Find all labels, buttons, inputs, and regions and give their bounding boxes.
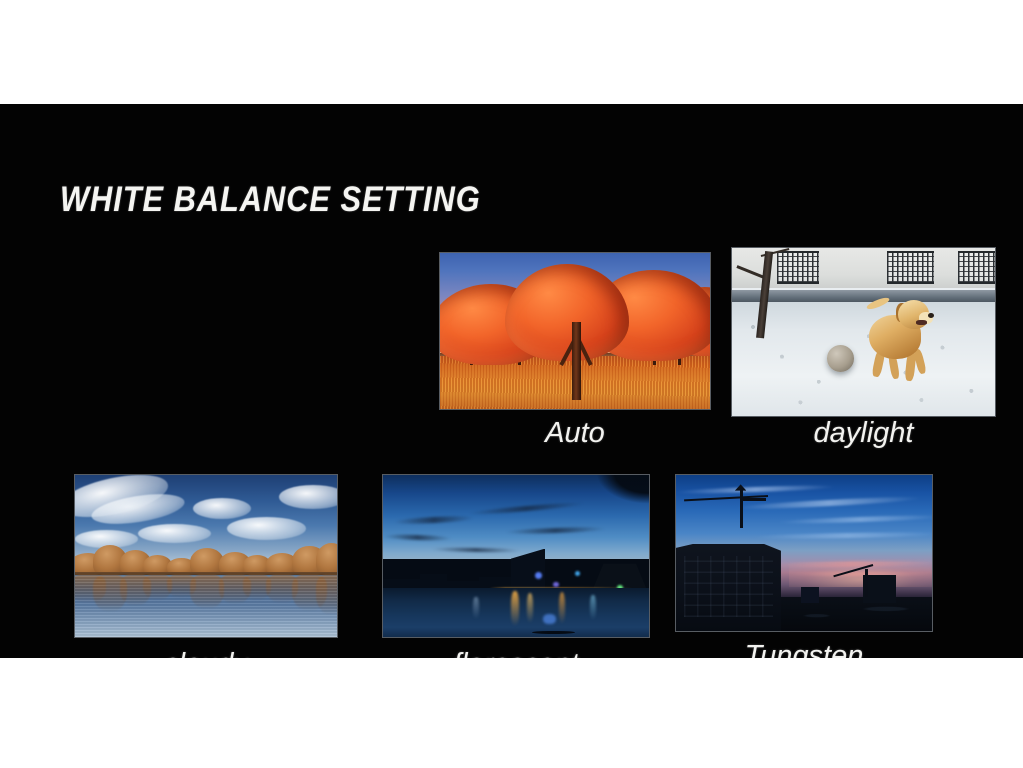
photo-florescent-image [383,475,649,637]
photo-frame-daylight [731,247,996,417]
florescent-light-reflection [473,597,478,619]
sample-photo-florescent[interactable] [382,474,650,638]
sample-photo-daylight[interactable] [731,247,996,417]
cloudy-tree-reflection [292,575,326,611]
tungsten-crane-mast [865,569,868,597]
florescent-light-reflection [590,595,596,620]
daylight-metal-railing [777,251,819,284]
florescent-water [383,588,649,637]
tungsten-apartment-block [676,534,781,631]
cloudy-tree-reflection [266,575,297,602]
cloudy-treeline [75,540,337,576]
photo-tungsten-image [676,475,932,631]
cloudy-cloud [227,517,306,540]
photo-daylight-image [732,248,995,416]
sample-photo-tungsten[interactable] [675,474,933,632]
cloudy-tree [316,543,337,576]
florescent-light-reflection [511,591,519,626]
cloudy-water [75,575,337,637]
auto-main-tree-trunk [572,322,581,400]
tungsten-crane-counter-jib [743,498,766,500]
tungsten-crane-mast [740,487,743,528]
cloudy-tree-reflection [243,575,272,600]
photo-frame-florescent [382,474,650,638]
caption-auto: Auto [439,417,711,450]
photo-frame-auto [439,252,711,410]
caption-tungsten: Tungsten [675,640,933,658]
daylight-metal-railing [958,251,995,284]
cloudy-tree-reflection [93,575,127,612]
tungsten-distant-building [801,587,819,603]
photo-auto-image [440,253,710,409]
dog-mouth [916,320,927,324]
cloudy-cloud [193,498,251,519]
cloudy-tree-reflection [167,575,196,597]
caption-cloudy: cloudy [74,648,338,658]
photo-frame-tungsten [675,474,933,632]
sample-photo-auto[interactable] [439,252,711,410]
palm-frond [620,475,649,478]
cloudy-tree-reflection [120,575,151,606]
cloudy-tree-reflection [316,575,337,614]
cloudy-tree-reflection [190,575,224,608]
florescent-light-reflection [527,593,533,623]
florescent-neon-light [553,582,558,587]
caption-daylight: daylight [731,417,996,450]
florescent-boat-silhouette [532,631,575,634]
cloudy-cloud [279,485,337,509]
caption-florescent: florescent [382,648,650,658]
sample-photo-cloudy[interactable] [74,474,338,638]
dog-nose [928,313,934,318]
daylight-snow-ground [732,302,995,416]
florescent-neon-light [535,572,542,578]
photo-cloudy-image [75,475,337,637]
slide-canvas: WHITE BALANCE SETTING [0,0,1023,768]
daylight-metal-railing [887,251,934,284]
cloudy-tree-reflection [219,575,250,603]
cloudy-tree-reflection [143,575,172,600]
florescent-light-reflection [559,592,566,624]
photo-frame-cloudy [74,474,338,638]
slide-stage: WHITE BALANCE SETTING [0,104,1023,658]
florescent-palm-frond-corner [596,475,649,504]
florescent-light-reflection [543,614,556,625]
cloudy-tree-reflection [75,575,106,602]
page-title: WHITE BALANCE SETTING [60,180,481,220]
